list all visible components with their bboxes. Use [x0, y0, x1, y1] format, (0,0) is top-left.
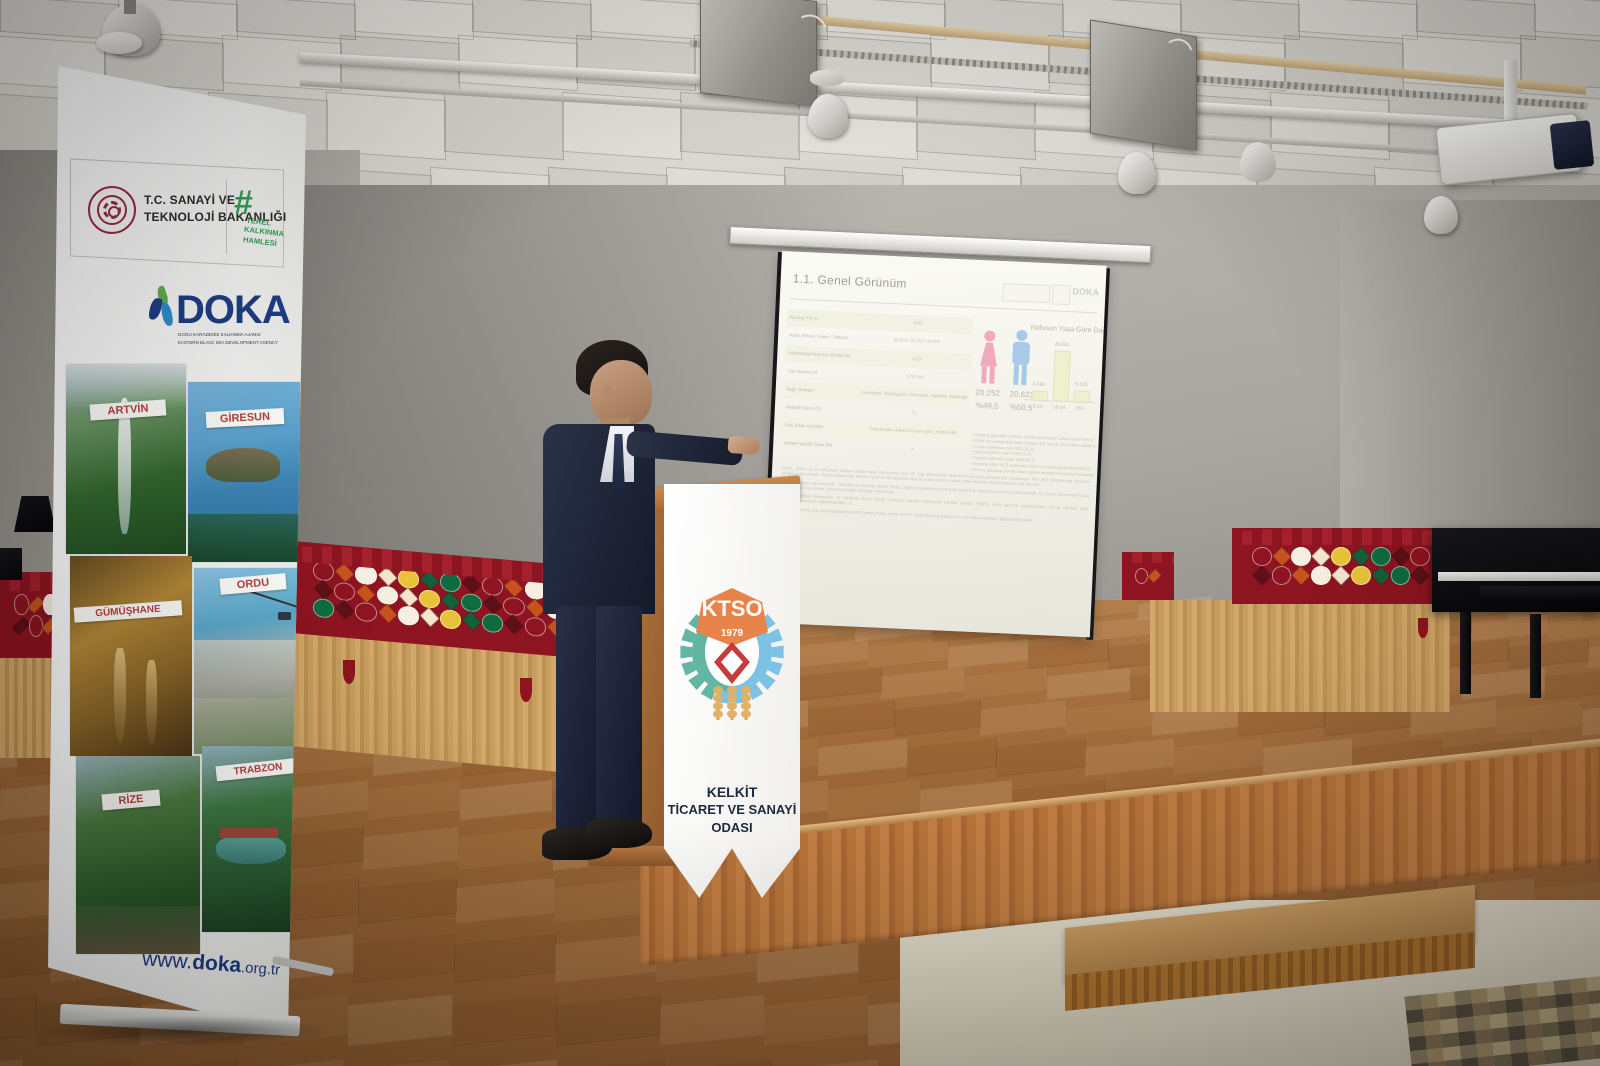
floor-plank [343, 1060, 451, 1066]
floor-plank [348, 994, 453, 1046]
wheat-grain [727, 710, 737, 718]
table-row-value: Gıda imalatı, tekstil ve hazır giyim, ma… [860, 426, 966, 436]
carpet-motif [1589, 1003, 1600, 1018]
kilim-motif [1252, 566, 1272, 586]
spotlight-lamp-right [1118, 152, 1156, 194]
kilim-motif [1391, 547, 1411, 567]
floor-plank [454, 934, 556, 983]
kilim-motif [0, 637, 14, 659]
ktso-disli-logo: KTSO1979 [664, 484, 800, 784]
photo-gumushane [70, 556, 192, 756]
carpet-motif [1591, 1017, 1600, 1032]
kilim-motif [525, 635, 546, 655]
ministry-emblem-icon [88, 186, 136, 234]
projection-screen: 1.1. Genel Görünüm DOKA Kuruluş Yılı (1)… [765, 251, 1107, 637]
floor-plank [808, 700, 895, 736]
ceiling-tile [1270, 92, 1390, 160]
table-row-label: Yüz Ölçümü (1) [787, 368, 861, 376]
floor-plank [664, 1060, 772, 1066]
age-bar-value: 5.621 [1068, 381, 1094, 388]
floor-plank [1028, 639, 1109, 669]
kilim-motif [482, 613, 503, 633]
floor-plank [1588, 639, 1600, 669]
kilim-motif [0, 594, 14, 616]
piano-leg-right [1530, 614, 1541, 698]
kilim-motif [1272, 585, 1292, 604]
kilim-motif [1331, 566, 1351, 586]
floor-plank [964, 667, 1048, 700]
podium-org-line3: ODASI [664, 820, 800, 836]
table-row-value: 1935 [865, 318, 971, 328]
carpet-motif [1577, 1045, 1595, 1060]
kilim-motif [1311, 547, 1331, 567]
website-brand: doka [191, 951, 242, 977]
age-bar-category: 65+ [1067, 405, 1093, 412]
doka-subtitle-en: EASTERN BLACK SEA DEVELOPMENT AGENCY [178, 340, 278, 345]
website-prefix: www. [141, 947, 193, 973]
kilim-motif [1272, 547, 1292, 567]
ceiling-tile [354, 0, 474, 40]
presenter-shoe-right [586, 818, 652, 848]
floor-plank [22, 1060, 130, 1066]
kilim-motif [483, 594, 503, 614]
floor-plank [996, 738, 1086, 776]
carpet-motif [1588, 989, 1600, 1004]
presenter-hand [727, 436, 760, 455]
wheat-grain [741, 710, 751, 718]
carpet-motif [1461, 1058, 1479, 1066]
kilim-motif [377, 604, 397, 624]
kilim-motif [14, 637, 28, 659]
floor-plank [456, 878, 555, 925]
wheat-grain [741, 702, 751, 710]
kilim-motif [1232, 566, 1252, 585]
kilim-bolster [1232, 528, 1450, 545]
wheat-grain [741, 686, 751, 694]
kilim-motif [1410, 566, 1430, 586]
floor-plank [368, 780, 461, 821]
kilim-motif [1147, 569, 1162, 584]
floor-plank [0, 994, 37, 1046]
kilim-motif [1232, 547, 1252, 566]
spotlight-lamp-left [808, 94, 848, 138]
kilim-motif [1135, 584, 1148, 600]
conference-hall-photo: 1.1. Genel Görünüm DOKA Kuruluş Yılı (1)… [0, 0, 1600, 1066]
floor-plank [554, 878, 653, 925]
kilim-motif [1252, 585, 1272, 604]
kilim-motif [398, 624, 419, 644]
wall-monitor [0, 548, 22, 580]
kilim-motif [1252, 547, 1272, 566]
kilim-cushion-right-small [1122, 552, 1174, 600]
table-row-label: Yıllık Nüfus Artış Hızı (Binde) (2) [788, 350, 862, 358]
carpet-motif [1561, 1047, 1579, 1062]
carpet-motif [1592, 1030, 1600, 1045]
kilim-motif [419, 626, 440, 646]
kilim-motif [334, 582, 355, 602]
kilim-motif [377, 622, 398, 642]
floor-plank [1047, 667, 1131, 700]
kilim-motif [482, 631, 503, 651]
floor-plank [1545, 667, 1600, 700]
kilim-motif [1371, 566, 1391, 586]
kilim-motif [1311, 585, 1331, 604]
presenter-head [590, 360, 652, 426]
piano-bench [1480, 586, 1600, 600]
doka-subtitle-tr: DOĞU KARADENİZ KALKINMA AJANSI [178, 332, 261, 337]
kilim-motif [1351, 547, 1371, 567]
table-row-label: Mahalle Sayısı (2) [786, 404, 860, 412]
age-bar [1052, 351, 1070, 402]
doka-wordmark: DOKA [176, 288, 290, 333]
kilim-motif [1391, 585, 1411, 604]
age-bar-value: 28.081 [1049, 342, 1075, 349]
kilim-motif [1291, 547, 1311, 566]
carpet-motif [1494, 1054, 1512, 1066]
spotlight-lamp-right-3 [1424, 196, 1458, 234]
carpet-motif [1478, 1056, 1496, 1066]
bench-base-right [1150, 600, 1450, 712]
kilim-motif [1122, 584, 1135, 600]
banner-shadow [40, 1016, 330, 1046]
carpet-motif [1527, 1051, 1545, 1066]
kilim-motif [313, 616, 334, 636]
bench-tassel-3 [1418, 618, 1428, 638]
photo-artvin [66, 364, 186, 554]
floor-plank [881, 667, 965, 700]
kilim-motif [441, 591, 461, 611]
ceiling-tile [1298, 0, 1418, 40]
floor-plank [764, 994, 869, 1046]
carpet-motif [1511, 1052, 1529, 1066]
kilim-motif [1331, 547, 1351, 566]
presenter-leg-right [596, 606, 642, 834]
floor-plank [868, 639, 949, 669]
kilim-motif [1148, 584, 1161, 600]
ceiling-tile [472, 0, 592, 40]
piano-keyboard [1438, 572, 1600, 581]
table-row-label: Öne Çıkan İş Kolları [785, 422, 859, 430]
ceiling-tile [590, 0, 710, 40]
crest-year: 1979 [721, 628, 744, 639]
spotlight-lamp-right-2 [1240, 142, 1276, 182]
kilim-motif [419, 589, 440, 609]
slide-title: 1.1. Genel Görünüm [792, 272, 907, 291]
wheat-grain [727, 694, 737, 702]
kilim-motif [14, 594, 28, 616]
ministry-logo-slide [1002, 283, 1051, 303]
spotlight-mount-left [810, 70, 844, 86]
floor-plank [788, 639, 869, 669]
kilim-bench-right [1232, 528, 1450, 604]
kilim-motif [1410, 547, 1430, 566]
age-chart-title: Nüfusun Yaşa Göre Dağılımı (2) [1031, 324, 1107, 335]
floor-plank [358, 878, 457, 925]
floor-plank [129, 1060, 237, 1066]
floor-plank [948, 639, 1029, 669]
table-row-value: 4 [859, 444, 965, 454]
carpet-motif [1428, 1061, 1446, 1066]
floor-plank [450, 1060, 558, 1066]
kilim-motif [1371, 547, 1391, 566]
floor-plank [452, 994, 557, 1046]
table-row-value: 20.623 / 20.252 / 40.875 [864, 336, 970, 346]
age-bar-value: 4.789 [1026, 381, 1052, 388]
kilim-motif [525, 617, 546, 637]
kilim-motif [313, 598, 334, 618]
wheat-grain [713, 686, 723, 694]
ceiling-tile [1416, 0, 1536, 40]
floor-plank [557, 1060, 665, 1066]
floor-plank [798, 667, 882, 700]
gear-tooth [680, 646, 692, 659]
kilim-motif [1161, 568, 1174, 584]
kilim-motif [355, 602, 376, 622]
kilim-motif [1351, 585, 1371, 604]
floor-plank [894, 700, 981, 736]
banner-website: www.doka.org.tr [141, 947, 281, 981]
floor-plank [980, 700, 1067, 736]
table-row-value: Demirkent, Gümüşgöze, Ekinciyurt, Yağlıd… [862, 390, 968, 400]
kilim-motif [1331, 585, 1351, 604]
bench-tassel-2 [520, 678, 532, 702]
floor-plank [1066, 700, 1153, 736]
floor-plank [0, 1060, 23, 1066]
floor-plank [236, 1060, 344, 1066]
kilim-motif [355, 620, 376, 640]
table-row-label: Bağlı Yerleşim [787, 386, 861, 394]
floor-plank [1085, 738, 1175, 776]
table-row-label: Kentsel İşsizlik Oranı (%) [784, 440, 858, 448]
kilim-motif [461, 593, 482, 613]
ceiling-tile [1180, 0, 1300, 40]
floor-plank [556, 994, 661, 1046]
kilim-motif [1122, 568, 1135, 584]
floor-plank [1582, 700, 1600, 736]
kilim-motif [419, 607, 439, 627]
floor-plank [458, 827, 554, 871]
doka-logo-slide: DOKA [1072, 286, 1103, 301]
kilim-motif [356, 583, 376, 603]
podium-org-line1: KELKİT [664, 784, 800, 802]
floor-plank [353, 934, 455, 983]
kilim-motif [1232, 585, 1252, 604]
kilim-motif [1291, 585, 1311, 604]
ceiling-tile [444, 92, 564, 160]
kilim-motif [377, 585, 398, 605]
table-row-label: Nüfus (Erkek / Kadın / Toplam) [789, 332, 863, 340]
projector-mount-pole [1504, 60, 1517, 126]
floor-plank [0, 934, 51, 983]
table-row-value: 1.725 km² [862, 372, 968, 382]
kilim-motif [503, 633, 524, 653]
table-row-value: -4,23 [863, 354, 969, 364]
secondary-logo-slide [1052, 284, 1071, 305]
kilim-motif [1291, 566, 1311, 586]
presenter-ear [602, 385, 613, 401]
female-figure-icon [976, 330, 1000, 385]
kilim-motif [440, 628, 461, 648]
photo-ordu [194, 568, 306, 754]
floor-plank [1174, 738, 1264, 776]
smoke-detector [96, 32, 142, 54]
crest-initials: KTSO [701, 596, 762, 621]
floor-plank [907, 738, 997, 776]
doka-mark-icon [148, 286, 176, 332]
wheat-grain [741, 694, 751, 702]
floor-plank [460, 780, 553, 821]
floor-plank [363, 827, 459, 871]
kilim-motif [1391, 566, 1411, 585]
slide-bullet-list: • Çalışma çağındaki nüfusun (15-64 yaş) … [968, 432, 1096, 524]
floor-plank [1548, 615, 1600, 643]
table-row-label: Kuruluş Yılı (1) [790, 314, 864, 322]
kilim-motif [1311, 566, 1331, 585]
piano-leg-left [1460, 612, 1471, 694]
carpet-motif [1445, 1059, 1463, 1066]
floor-plank [660, 994, 765, 1046]
floor-plank [771, 1060, 879, 1066]
wheat-grain [713, 702, 723, 710]
floor-plank [1496, 700, 1583, 736]
kilim-motif [503, 596, 524, 616]
kilim-motif [398, 605, 419, 625]
carpet-motif [1587, 976, 1600, 991]
floor-plank [818, 738, 908, 776]
podium-org-line2: TİCARET VE SANAYİ [664, 802, 800, 818]
kilim-bolster [1122, 552, 1174, 563]
kilim-motif [1371, 585, 1391, 604]
wheat-grain [713, 710, 723, 718]
kilim-motif [1272, 566, 1292, 585]
table-row-value: 71 [861, 408, 967, 418]
kilim-motif [334, 618, 355, 638]
kilim-motif [12, 617, 30, 635]
ceiling-tile [236, 0, 356, 40]
kilim-motif [1351, 566, 1371, 585]
kilim-motif [504, 615, 524, 635]
slide-content: 1.1. Genel Görünüm DOKA Kuruluş Yılı (1)… [765, 251, 1107, 637]
floor-plank [1508, 639, 1589, 669]
age-distribution-chart: 4.7890-1428.08115-645.62165+ [1021, 336, 1101, 419]
carpet-motif [1594, 1044, 1600, 1059]
kilim-motif [398, 587, 418, 607]
projector-lens [1550, 120, 1595, 170]
bench-tassel-1 [343, 660, 355, 684]
wheat-grain [727, 702, 737, 710]
kilim-motif [461, 629, 482, 649]
photo-rize [76, 756, 200, 954]
kilim-motif [1410, 585, 1430, 604]
spotlight-bracket [124, 0, 136, 14]
ceiling-tile [1534, 0, 1600, 40]
kilim-motif [314, 580, 334, 600]
wheat-grain [727, 686, 737, 694]
doka-rollup-banner: T.C. SANAYİ VE TEKNOLOJİ BAKANLIĞI # YER… [48, 56, 306, 1036]
wheat-grain [713, 694, 723, 702]
gear-tooth [772, 646, 784, 659]
podium-banner: KTSO1979 KELKİT TİCARET VE SANAYİ ODASI [664, 484, 800, 898]
general-overview-table: Kuruluş Yılı (1)1935Nüfus (Erkek / Kadın… [781, 309, 974, 467]
kilim-motif [29, 637, 43, 659]
kilim-motif [1161, 584, 1174, 600]
kilim-motif [462, 611, 482, 631]
kilim-motif [335, 600, 355, 620]
ministry-divider [226, 180, 227, 254]
kilim-motif [440, 609, 461, 629]
carpet-motif [1544, 1049, 1562, 1064]
ministry-name-line1: T.C. SANAYİ VE [144, 194, 235, 208]
